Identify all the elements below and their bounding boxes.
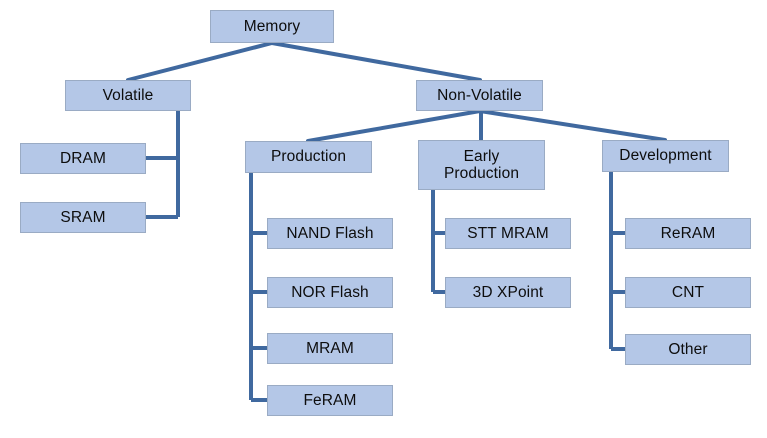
edge-nonvolatile-development xyxy=(480,111,665,140)
node-reram-label: ReRAM xyxy=(626,225,750,242)
node-cnt[interactable]: CNT xyxy=(625,277,751,308)
node-sram-label: SRAM xyxy=(21,209,145,226)
node-non-volatile-label: Non-Volatile xyxy=(417,87,542,104)
node-other-label: Other xyxy=(626,341,750,358)
edge-memory-nonvolatile xyxy=(272,43,480,80)
node-early-production-label: Early Production xyxy=(419,148,544,183)
node-feram-label: FeRAM xyxy=(268,392,392,409)
node-feram[interactable]: FeRAM xyxy=(267,385,393,416)
node-reram[interactable]: ReRAM xyxy=(625,218,751,249)
node-memory-label: Memory xyxy=(211,18,333,35)
node-stt-mram[interactable]: STT MRAM xyxy=(445,218,571,249)
node-nor-flash-label: NOR Flash xyxy=(268,284,392,301)
edge-nonvolatile-production xyxy=(308,111,480,141)
node-3d-xpoint[interactable]: 3D XPoint xyxy=(445,277,571,308)
node-mram[interactable]: MRAM xyxy=(267,333,393,364)
node-stt-mram-label: STT MRAM xyxy=(446,225,570,242)
node-development[interactable]: Development xyxy=(602,140,729,172)
node-dram[interactable]: DRAM xyxy=(20,143,146,174)
memory-taxonomy-diagram: Memory Volatile Non-Volatile DRAM SRAM P… xyxy=(0,0,767,438)
node-non-volatile[interactable]: Non-Volatile xyxy=(416,80,543,111)
node-3d-xpoint-label: 3D XPoint xyxy=(446,284,570,301)
node-other[interactable]: Other xyxy=(625,334,751,365)
node-dram-label: DRAM xyxy=(21,150,145,167)
node-mram-label: MRAM xyxy=(268,340,392,357)
node-development-label: Development xyxy=(603,147,728,164)
node-volatile[interactable]: Volatile xyxy=(65,80,191,111)
node-nand-flash[interactable]: NAND Flash xyxy=(267,218,393,249)
node-cnt-label: CNT xyxy=(626,284,750,301)
node-sram[interactable]: SRAM xyxy=(20,202,146,233)
node-volatile-label: Volatile xyxy=(66,87,190,104)
edge-memory-volatile xyxy=(128,43,272,80)
node-nand-flash-label: NAND Flash xyxy=(268,225,392,242)
node-nor-flash[interactable]: NOR Flash xyxy=(267,277,393,308)
node-early-production[interactable]: Early Production xyxy=(418,140,545,190)
node-memory[interactable]: Memory xyxy=(210,10,334,43)
node-production[interactable]: Production xyxy=(245,141,372,173)
node-production-label: Production xyxy=(246,148,371,165)
